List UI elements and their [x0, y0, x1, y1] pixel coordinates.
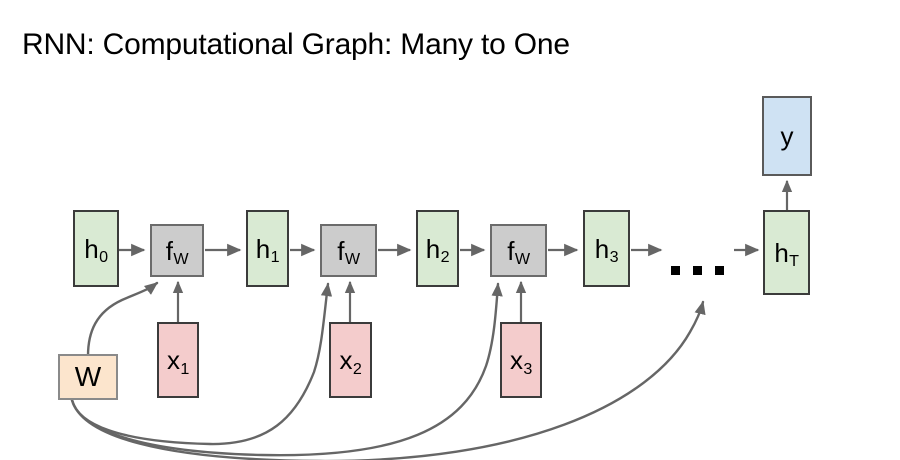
node-h1-label: h1: [256, 236, 279, 262]
node-W-label: W: [75, 363, 101, 391]
node-fw-2: fW: [320, 224, 377, 277]
ellipsis-dot: [693, 266, 702, 275]
node-fw-2-label: fW: [337, 238, 359, 264]
node-x3: x3: [500, 322, 542, 398]
input-to-function-arrows: [178, 282, 521, 322]
node-h1: h1: [246, 210, 289, 287]
node-h0-label: h0: [84, 236, 107, 262]
node-x2: x2: [329, 322, 372, 398]
node-y-label: y: [781, 123, 794, 149]
curve-W-to-fw1: [88, 283, 157, 356]
ellipsis-dot: [671, 266, 680, 275]
node-hT-label: hT: [774, 240, 798, 266]
node-fw-1: fW: [150, 224, 204, 277]
node-hT: hT: [763, 210, 810, 295]
ellipsis-dots: [671, 266, 724, 275]
node-fw-3: fW: [490, 224, 547, 277]
node-h2: h2: [416, 210, 459, 287]
node-h3: h3: [583, 210, 630, 287]
node-x2-label: x2: [340, 347, 362, 373]
node-W: W: [58, 354, 118, 400]
node-fw-3-label: fW: [507, 238, 529, 264]
curve-W-to-fw3: [72, 284, 498, 455]
node-fw-1-label: fW: [166, 238, 188, 264]
node-h2-label: h2: [426, 236, 449, 262]
node-x1-label: x1: [167, 347, 189, 373]
node-x1: x1: [157, 322, 199, 398]
ellipsis-dot: [715, 266, 724, 275]
node-h0: h0: [73, 210, 119, 287]
node-x3-label: x3: [510, 347, 532, 373]
node-y: y: [762, 96, 812, 176]
node-h3-label: h3: [595, 236, 618, 262]
